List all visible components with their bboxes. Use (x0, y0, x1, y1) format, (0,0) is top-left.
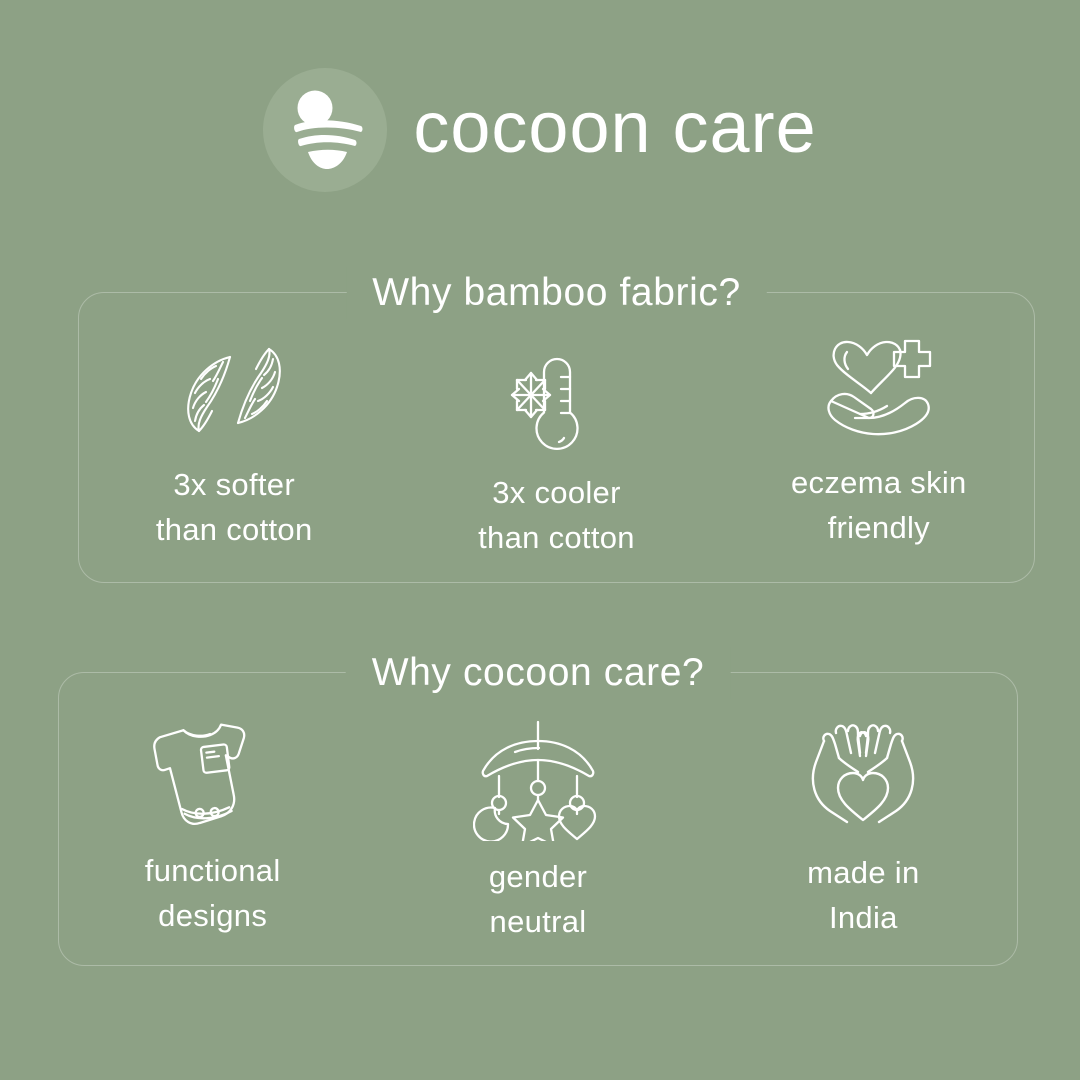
feature-columns: 3x softer than cotton (79, 293, 1034, 582)
feature-label: gender neutral (489, 855, 587, 945)
feature-item-softer: 3x softer than cotton (75, 335, 393, 553)
thermometer-snowflake-icon (501, 343, 611, 453)
brand-header: cocoon care (0, 68, 1080, 192)
cocoon-sun-waves-logo-icon (263, 68, 387, 192)
feature-item-cooler: 3x cooler than cotton (397, 343, 715, 561)
feature-item-gender-neutral: gender neutral (378, 719, 697, 945)
feature-label: 3x cooler than cotton (478, 471, 635, 561)
feature-label: functional designs (145, 849, 281, 939)
feature-label: made in India (807, 851, 919, 941)
feature-item-made-in-india: made in India (704, 715, 1023, 941)
hands-holding-heart-icon (800, 715, 926, 837)
feathers-icon (175, 335, 293, 445)
hand-heart-cross-icon (821, 333, 937, 443)
section-card-bamboo-fabric: Why bamboo fabric? (78, 292, 1035, 583)
feature-label: 3x softer than cotton (156, 463, 313, 553)
crib-mobile-icon (473, 719, 603, 841)
feature-label: eczema skin friendly (791, 461, 967, 551)
poster: cocoon care Why bamboo fabric? (0, 0, 1080, 1080)
brand-wordmark: cocoon care (413, 92, 816, 164)
baby-onesie-icon (151, 713, 275, 835)
feature-item-eczema: eczema skin friendly (720, 333, 1038, 551)
feature-columns: functional designs (59, 673, 1017, 965)
feature-item-functional-designs: functional designs (53, 713, 372, 939)
section-card-cocoon-care: Why cocoon care? (58, 672, 1018, 966)
